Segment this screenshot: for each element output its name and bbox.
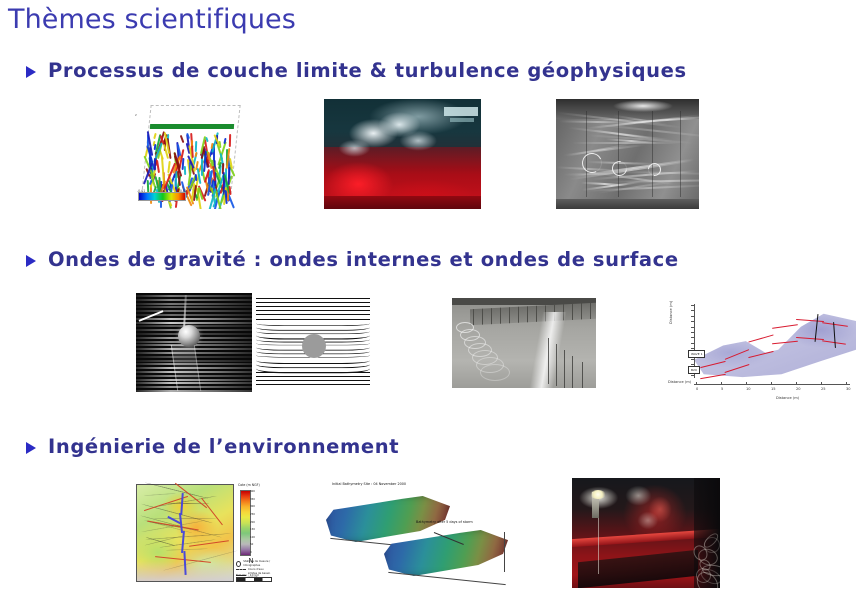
y-axis-tick [691, 321, 694, 322]
x-tick-label: 20 [796, 387, 801, 391]
isopycnal-line [256, 380, 370, 381]
dashed-line-icon [236, 569, 246, 570]
y-axis-tick [691, 310, 694, 311]
measurement-post [548, 338, 549, 384]
turbulent-streak [207, 152, 210, 160]
turbulent-streak [194, 174, 197, 181]
section-heading-boundary-layer-turbulence: Processus de couche limite & turbulence … [26, 59, 687, 82]
figure-kelvin-helmholtz-billows [556, 99, 699, 209]
truss-member [473, 309, 474, 325]
stratification-stripe [136, 303, 252, 305]
truss-member [527, 306, 528, 322]
colorbar-tick-label-group: 400350300250200150100500 [250, 490, 255, 554]
x-tick-label: 30 [846, 387, 851, 391]
truss-member [590, 303, 591, 319]
axis-line [388, 572, 505, 585]
plot-caption-after-storm: Bathymetry after 5 days of storm [416, 520, 473, 524]
lower-dark-band [556, 199, 699, 209]
colorbar-tick-label: 250 [250, 513, 255, 516]
colorbar-title: Cote (m NGF) [238, 483, 260, 487]
contour-line [144, 493, 176, 496]
axis-label-y: Distance (m) [669, 301, 673, 324]
colorbar-tick-label: 50 [250, 543, 255, 546]
axis-label-z: Distance (m) [668, 380, 691, 384]
turbulent-streak [190, 140, 192, 146]
colorbar-tick-label: 100 [250, 536, 255, 539]
y-axis-tick [691, 359, 694, 360]
isopycnal-line [256, 314, 370, 315]
truss-member [572, 304, 573, 320]
legend-item: Stations de mesure / limnigraphes [236, 560, 280, 568]
river-segment [180, 493, 184, 515]
sphere-object [302, 334, 326, 358]
page-title: Thèmes scientifiques [8, 4, 296, 35]
measurement-post [564, 350, 565, 388]
figure-sphere-internal-wave-schematic [254, 296, 372, 389]
isopycnal-line [256, 306, 370, 307]
x-axis-tick [746, 382, 747, 385]
annotation-wave-1: WAVE 1 [688, 350, 705, 358]
bullet-triangle-icon [26, 442, 36, 454]
compass-rose-icon: N [244, 554, 258, 568]
figure-topographic-hazard-map: Cote (m NGF) 400350300250200150100500 St… [132, 478, 280, 586]
section-heading-label: Ondes de gravité : ondes internes et ond… [48, 248, 679, 271]
y-axis-tick [691, 327, 694, 328]
y-axis-tick [691, 337, 694, 338]
tank-seam-line [652, 111, 653, 197]
annotation-b20: B20 [688, 366, 700, 374]
axis-line [504, 532, 505, 572]
measurement-post [556, 344, 557, 386]
turbulent-streak [228, 186, 231, 195]
stratification-stripe [136, 318, 252, 320]
isopycnal-line [256, 310, 370, 311]
crest-line-red [748, 334, 773, 342]
truss-member [509, 307, 510, 323]
figure-bathymetry-evolution-plots: Initial Bathymetry Site : 04 November 20… [322, 478, 512, 586]
bullet-triangle-icon [26, 255, 36, 267]
colorbar-tick-label: 400 [250, 490, 255, 493]
tank-seam-line [618, 111, 619, 197]
isopycnal-line [256, 376, 370, 377]
y-axis-tick [691, 305, 694, 306]
isopycnal-line [256, 319, 370, 320]
horizontal-axis [694, 384, 850, 385]
bathymetry-surface-initial [326, 496, 450, 542]
x-tick-label: 0 [696, 387, 698, 391]
isopycnal-line [256, 302, 370, 303]
truss-member [482, 309, 483, 325]
y-axis-tick [691, 332, 694, 333]
contour-line [153, 518, 217, 519]
x-tick-label: 10 [746, 387, 751, 391]
measurement-post [572, 356, 573, 388]
figure-internal-wave-surface-plot: Distance (m) Distance (m) Distance (m) W… [666, 292, 862, 400]
figure-wave-basin-photograph [452, 298, 596, 388]
contour-line [166, 548, 208, 550]
x-tick-label: 15 [771, 387, 776, 391]
section-heading-label: Processus de couche limite & turbulence … [48, 59, 687, 82]
lamp-glow [590, 490, 606, 499]
x-axis-tick [846, 382, 847, 385]
wave-ring [480, 364, 510, 381]
figure-dyed-plume-experiment [324, 99, 481, 209]
road-line [175, 483, 207, 508]
section-heading-gravity-waves: Ondes de gravité : ondes internes et ond… [26, 248, 679, 271]
stratification-stripe [136, 322, 252, 324]
x-axis-tick [821, 382, 822, 385]
x-axis-tick [796, 382, 797, 385]
colorbar-tick-label: 150 [250, 528, 255, 531]
station-symbol-icon [236, 561, 241, 567]
bullet-triangle-icon [26, 66, 36, 78]
billow-streak [572, 142, 680, 144]
stratification-stripe [136, 306, 252, 308]
turbulent-streak [194, 141, 197, 152]
axis-label-z: z [135, 113, 137, 117]
colorbar-tick-label: 300 [250, 505, 255, 508]
x-axis-tick [721, 382, 722, 385]
axis-label-x: Distance (m) [776, 396, 799, 400]
turbulent-cloud [338, 111, 456, 173]
vertical-probe-rod [598, 518, 599, 574]
truss-member [581, 303, 582, 319]
x-axis-tick [696, 382, 697, 385]
x-tick-label: 5 [721, 387, 723, 391]
colorbar [138, 192, 186, 201]
tank-floor [324, 196, 481, 209]
truss-member [491, 308, 492, 324]
truss-member [518, 307, 519, 323]
crest-line-red [772, 324, 798, 329]
y-axis-tick [691, 375, 694, 376]
truss-member [536, 306, 537, 322]
x-tick-label: 25 [821, 387, 826, 391]
stratification-stripe [136, 310, 252, 312]
turbulent-streak [184, 165, 186, 174]
x-axis-tick [771, 382, 772, 385]
figure-sediment-flume-photograph [572, 478, 720, 588]
stratification-stripe [136, 295, 252, 297]
map-panel [136, 484, 234, 582]
y-axis-tick [691, 343, 694, 344]
isopycnal-line [256, 384, 370, 385]
colorbar-tick-label: 200 [250, 521, 255, 524]
scale-bar [236, 577, 272, 582]
turbulent-streak [228, 133, 230, 146]
isopycnal-line [256, 298, 370, 299]
section-heading-environmental-engineering: Ingénierie de l’environnement [26, 435, 399, 458]
figure-sphere-schlieren-photograph [136, 293, 252, 392]
tank-seam-line [680, 111, 681, 197]
green-reference-bar [150, 124, 234, 129]
isopycnal-line [256, 372, 370, 373]
sphere-object [178, 325, 200, 347]
figure-turbulent-streaks-simulation: z -0.01 0.0 0.01 [134, 99, 250, 209]
plot-caption-initial: Initial Bathymetry Site : 04 November 20… [332, 482, 406, 486]
truss-member [500, 308, 501, 324]
measurement-post [582, 362, 583, 388]
y-axis-tick [691, 316, 694, 317]
colorbar-tick-label: 350 [250, 498, 255, 501]
section-heading-label: Ingénierie de l’environnement [48, 435, 399, 458]
stratification-stripe [136, 299, 252, 301]
